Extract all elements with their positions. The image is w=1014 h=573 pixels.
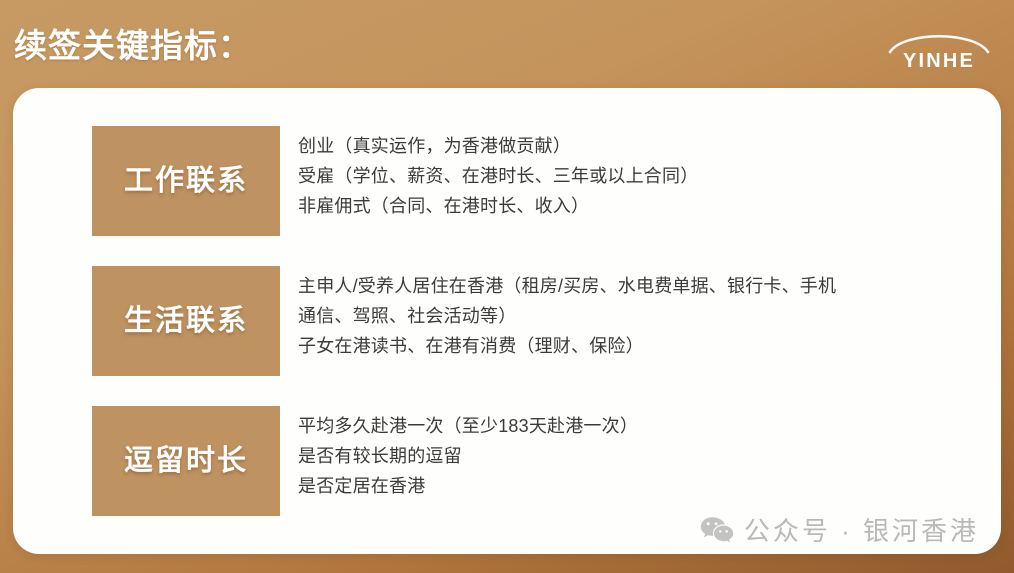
detail-line: 创业（真实运作，为香港做贡献）: [298, 131, 981, 161]
watermark-text: 公众号 · 银河香港: [744, 516, 979, 546]
slide-screen: 续签关键指标： YINHE 工作联系 创业（真实运作，为香港做贡献） 受雇（学位…: [0, 0, 1014, 573]
row-label-box-life: 生活联系: [92, 266, 280, 376]
detail-line: 是否定居在香港: [298, 471, 981, 501]
svg-text:YINHE: YINHE: [903, 50, 975, 71]
wechat-icon: [700, 516, 734, 546]
detail-line: 非雇佣式（合同、在港时长、收入）: [298, 191, 981, 221]
row-label-text: 工作联系: [124, 167, 248, 196]
row-detail-lines: 平均多久赴港一次（至少183天赴港一次） 是否有较长期的逗留 是否定居在香港: [298, 411, 981, 501]
detail-line: 平均多久赴港一次（至少183天赴港一次）: [298, 411, 981, 441]
detail-line: 受雇（学位、薪资、在港时长、三年或以上合同）: [298, 161, 981, 191]
indicator-rows: 工作联系 创业（真实运作，为香港做贡献） 受雇（学位、薪资、在港时长、三年或以上…: [13, 88, 1001, 554]
content-card: 工作联系 创业（真实运作，为香港做贡献） 受雇（学位、薪资、在港时长、三年或以上…: [13, 88, 1001, 554]
row-label-box-work: 工作联系: [92, 126, 280, 236]
detail-line: 通信、驾照、社会活动等）: [298, 301, 981, 331]
detail-line: 主申人/受养人居住在香港（租房/买房、水电费单据、银行卡、手机: [298, 271, 981, 301]
detail-line: 是否有较长期的逗留: [298, 441, 981, 471]
yinhe-logo: YINHE: [878, 27, 1000, 71]
row-label-box-stay: 逗留时长: [92, 406, 280, 516]
slide-header: 续签关键指标： YINHE: [0, 0, 1014, 88]
page-title: 续签关键指标：: [14, 24, 252, 68]
row-label-text: 生活联系: [124, 307, 248, 336]
row-detail-lines: 创业（真实运作，为香港做贡献） 受雇（学位、薪资、在港时长、三年或以上合同） 非…: [298, 131, 981, 221]
detail-line: 子女在港读书、在港有消费（理财、保险）: [298, 331, 981, 361]
row-label-text: 逗留时长: [124, 447, 248, 476]
wechat-watermark: 公众号 · 银河香港: [700, 516, 979, 546]
row-detail-lines: 主申人/受养人居住在香港（租房/买房、水电费单据、银行卡、手机 通信、驾照、社会…: [298, 271, 981, 361]
